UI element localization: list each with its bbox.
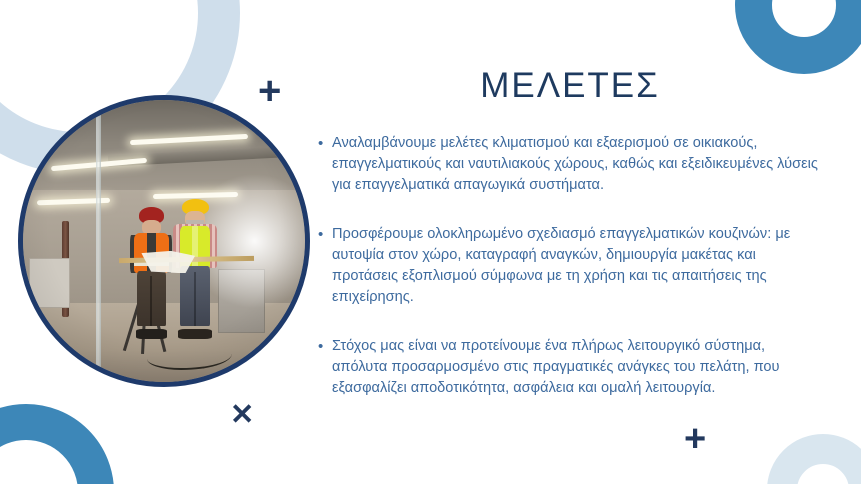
bullet-dot-icon: • bbox=[318, 336, 332, 357]
list-item: • Αναλαμβάνουμε μελέτες κλιματισμού και … bbox=[318, 133, 818, 196]
ring-bottom-right-decoration bbox=[767, 434, 861, 484]
ring-top-right-decoration bbox=[735, 0, 861, 74]
bullet-text: Αναλαμβάνουμε μελέτες κλιματισμού και εξ… bbox=[332, 133, 818, 196]
page-title: ΜΕΛΕΤΕΣ bbox=[330, 66, 810, 106]
bullet-dot-icon: • bbox=[318, 224, 332, 245]
bullet-list: • Αναλαμβάνουμε μελέτες κλιματισμού και … bbox=[318, 133, 818, 399]
bullet-text: Προσφέρουμε ολοκληρωμένο σχεδιασμό επαγγ… bbox=[332, 224, 818, 308]
x-mark-icon: ✕ bbox=[230, 401, 254, 430]
slide-canvas: + ✕ + bbox=[0, 0, 861, 484]
bullet-dot-icon: • bbox=[318, 133, 332, 154]
list-item: • Προσφέρουμε ολοκληρωμένο σχεδιασμό επα… bbox=[318, 224, 818, 308]
construction-workers-photo bbox=[23, 100, 305, 382]
photo-vignette bbox=[23, 100, 305, 382]
circular-photo-frame bbox=[18, 95, 310, 387]
list-item: • Στόχος μας είναι να προτείνουμε ένα πλ… bbox=[318, 336, 818, 399]
bullet-text: Στόχος μας είναι να προτείνουμε ένα πλήρ… bbox=[332, 336, 818, 399]
ring-bottom-left-decoration bbox=[0, 404, 114, 484]
plus-mark-bottom-icon: + bbox=[684, 420, 706, 458]
